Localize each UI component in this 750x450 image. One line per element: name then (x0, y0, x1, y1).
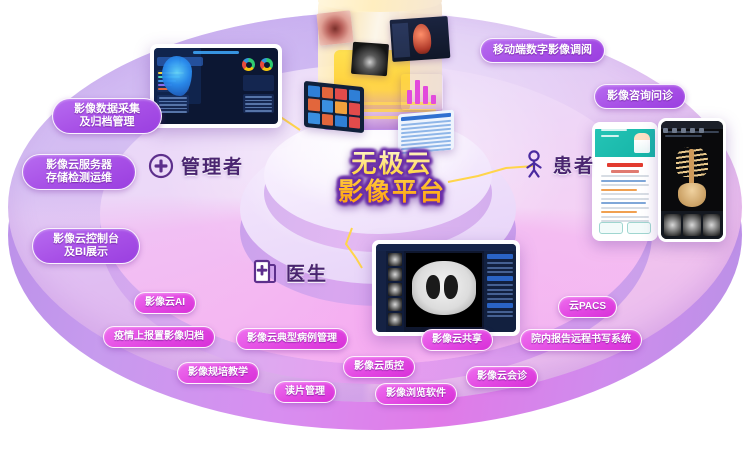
bi-dashboard-screen (154, 48, 278, 124)
pill-text: 影像云会诊 (477, 371, 527, 383)
role-administrator-label: 管理者 (181, 152, 244, 179)
ct-side-pane (392, 23, 410, 58)
ct-image-canvas (406, 253, 482, 327)
pill-epidemic-report-archive[interactable]: 疫情上报置影像归档 (103, 326, 215, 348)
dashboard-title-bar (193, 51, 239, 54)
pill-remote-report-writing[interactable]: 院内报告远程书写系统 (520, 329, 642, 351)
pill-text: 影像浏览软件 (386, 388, 446, 400)
pill-image-data-collection[interactable]: 影像数据采集及归档管理 (52, 98, 162, 134)
viewer-info-panel (484, 251, 516, 332)
ct-lung-left (426, 275, 440, 299)
pacs-viewer-screen (376, 244, 516, 332)
viewer-tool-rail[interactable] (376, 251, 386, 332)
mobile-slice-strip[interactable] (661, 211, 723, 239)
pill-image-cloud-sharing[interactable]: 影像云共享 (421, 329, 493, 351)
page-title: 无极云 影像平台 (322, 150, 462, 206)
mobile-3d-screen (661, 121, 723, 239)
hospital-name (607, 163, 643, 167)
ct-organ-render (412, 23, 432, 54)
pill-text: 影像数据采集及归档管理 (74, 103, 140, 129)
pill-image-viewer-software[interactable]: 影像浏览软件 (375, 383, 457, 405)
doctor-illustration (634, 133, 650, 153)
pill-mobile-image-retrieval[interactable]: 移动端数字影像调阅 (480, 38, 605, 63)
dashboard-table-left (157, 95, 189, 113)
pacs-viewer-device[interactable] (372, 240, 520, 336)
mobile-3d-phone[interactable] (658, 118, 726, 242)
infographic-canvas: 管理者 患者 医生 无极云 影像平台 影像数据采集及归档管理 影像云服务器存储检… (0, 0, 750, 450)
tile-grid (308, 85, 360, 128)
pill-text: 影像云典型病例管理 (247, 333, 337, 345)
3d-ct-thumbnail (390, 16, 451, 62)
dashboard-line-chart (243, 75, 274, 91)
report-action-buttons[interactable] (599, 222, 651, 234)
app-tiles-screen (304, 81, 364, 133)
report-subtitle (611, 170, 639, 173)
pill-image-cloud-server[interactable]: 影像云服务器存储检测运维 (22, 154, 136, 190)
person-icon (522, 150, 546, 178)
pill-image-cloud-consultation[interactable]: 影像云会诊 (466, 366, 538, 388)
viewer-series-thumbnails[interactable] (386, 251, 404, 332)
role-doctor[interactable]: 医生 (252, 258, 328, 286)
pill-text: 影像云共享 (432, 334, 482, 346)
page-title-line-2: 影像平台 (322, 178, 462, 206)
role-patient-label: 患者 (553, 151, 595, 178)
role-administrator[interactable]: 管理者 (148, 152, 244, 179)
pill-image-cloud-ai[interactable]: 影像云AI (134, 292, 196, 314)
role-patient[interactable]: 患者 (522, 150, 595, 178)
viewer-toolbar[interactable] (376, 244, 516, 251)
pelvis (678, 183, 706, 207)
pill-typical-case-management[interactable]: 影像云典型病例管理 (236, 328, 348, 350)
document-plus-icon (252, 258, 279, 286)
pill-image-cloud-qc[interactable]: 影像云质控 (343, 356, 415, 378)
bar-chart-screen (401, 74, 443, 110)
pill-image-cloud-console[interactable]: 影像云控制台及BI展示 (32, 228, 140, 264)
patient-report-screen (595, 125, 655, 238)
report-app-header (595, 129, 655, 157)
skeleton-3d-render (674, 147, 710, 209)
ultrasound-thumbnail (351, 42, 389, 76)
dashboard-donuts (242, 58, 275, 72)
endoscopy-thumbnail (316, 10, 353, 45)
pill-text: 影像云AI (145, 297, 185, 309)
pill-text: 院内报告远程书写系统 (531, 334, 631, 346)
role-doctor-label: 医生 (286, 259, 328, 286)
circle-plus-icon (148, 153, 174, 179)
dashboard-table-right (243, 94, 274, 113)
pill-standardized-training[interactable]: 影像规培教学 (177, 362, 259, 384)
pill-text: 影像规培教学 (188, 367, 248, 379)
pill-text: 移动端数字影像调阅 (493, 44, 592, 57)
pill-text: 读片管理 (285, 386, 325, 398)
pill-text: 影像咨询问诊 (607, 90, 673, 103)
pill-text: 疫情上报置影像归档 (114, 331, 204, 343)
page-title-line-1: 无极云 (322, 150, 462, 178)
pill-image-consultation[interactable]: 影像咨询问诊 (594, 84, 686, 109)
patient-report-phone[interactable] (592, 122, 658, 241)
pill-text: 影像云服务器存储检测运维 (46, 159, 112, 185)
pill-text: 云PACS (569, 301, 606, 313)
bi-dashboard-device[interactable] (150, 44, 282, 128)
mobile-viewer-toolbar[interactable] (661, 121, 723, 129)
pill-cloud-pacs[interactable]: 云PACS (558, 296, 617, 318)
data-table-screen (398, 110, 454, 155)
pill-text: 影像云质控 (354, 361, 404, 373)
pill-film-reading-management[interactable]: 读片管理 (274, 381, 336, 403)
pill-text: 影像云控制台及BI展示 (53, 233, 119, 259)
